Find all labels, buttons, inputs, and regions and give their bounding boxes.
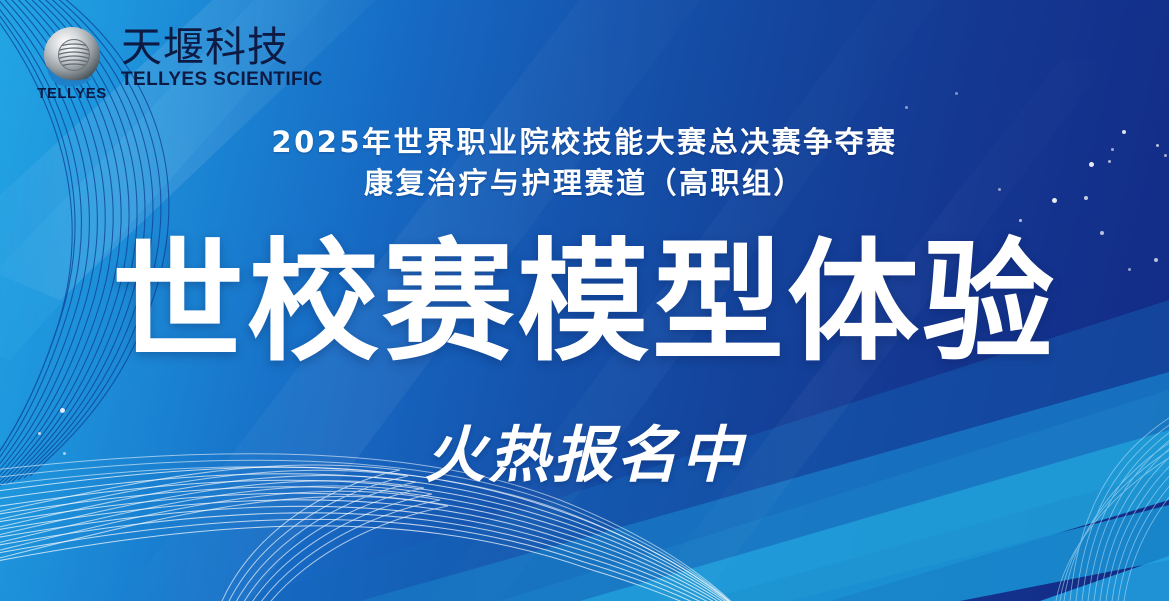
promo-banner: TELLYES 天堰科技 TELLYES SCIENTIFIC 2025年世界职… xyxy=(0,0,1169,601)
brand-logo: TELLYES 天堰科技 TELLYES SCIENTIFIC xyxy=(33,22,323,100)
tellyes-sphere-logo-icon: TELLYES xyxy=(33,22,111,100)
particle-dot xyxy=(1100,231,1104,235)
particle-dot xyxy=(60,408,65,413)
particle-dot xyxy=(905,106,908,109)
company-name-en: TELLYES SCIENTIFIC xyxy=(121,69,323,91)
registration-tagline: 火热报名中 xyxy=(0,425,1169,486)
company-name-cn: 天堰科技 xyxy=(121,27,323,69)
logo-mark-caption: TELLYES xyxy=(33,85,111,102)
page-title: 世校赛模型体验 xyxy=(0,237,1169,369)
event-subtitle-line-1: 2025年世界职业院校技能大赛总决赛争夺赛 xyxy=(0,122,1169,163)
event-subtitle: 2025年世界职业院校技能大赛总决赛争夺赛 康复治疗与护理赛道（高职组） xyxy=(0,122,1169,204)
brand-wordmark: 天堰科技 TELLYES SCIENTIFIC xyxy=(121,27,323,92)
particle-dot xyxy=(1019,219,1022,222)
event-subtitle-line-2: 康复治疗与护理赛道（高职组） xyxy=(0,163,1169,204)
particle-dot xyxy=(955,92,958,95)
